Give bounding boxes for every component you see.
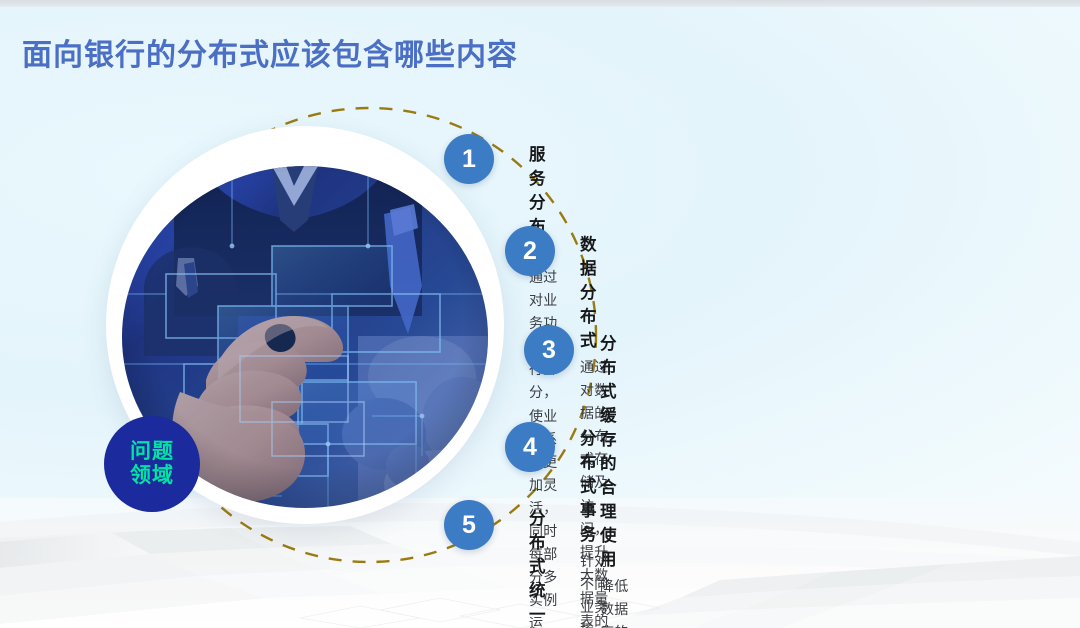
item-number-badge: 2 [505, 226, 555, 276]
item-body: 针对不同业务场景，提供切实可落地的方案，解决跨服务、 跨数据节点的事务一致性问题… [580, 550, 608, 628]
item-text: 分布式统一调度 协调多个分布式节点协同工作，有效控制日终处理时间。 [529, 505, 557, 628]
problem-domain-line-2: 领域 [130, 464, 174, 488]
page-title: 面向银行的分布式应该包含哪些内容 [22, 30, 518, 74]
item-number-badge: 4 [505, 422, 555, 472]
problem-domain-badge: 问题 领域 [104, 416, 200, 512]
item-number-badge: 3 [524, 325, 574, 375]
problem-domain-line-1: 问题 [130, 440, 174, 464]
top-edge-strip [0, 0, 1080, 7]
slide-canvas: 面向银行的分布式应该包含哪些内容 [0, 0, 1080, 628]
item-number-badge: 1 [444, 134, 494, 184]
item-heading: 分布式事务 [580, 425, 608, 545]
item-number-badge: 5 [444, 500, 494, 550]
item-heading: 分布式统一调度 [529, 505, 557, 628]
item-text: 分布式事务 针对不同业务场景，提供切实可落地的方案，解决跨服务、 跨数据节点的事… [580, 425, 608, 628]
